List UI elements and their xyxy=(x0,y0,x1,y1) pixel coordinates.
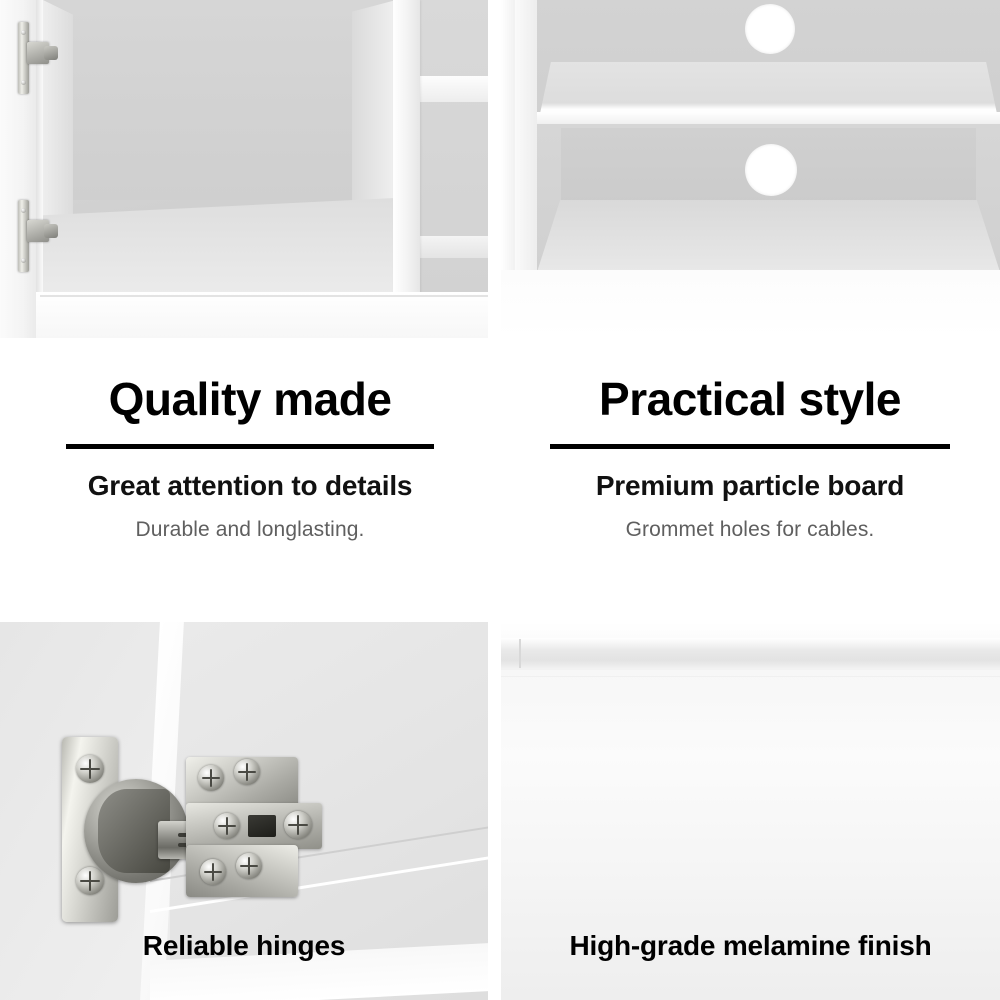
hinge-cup xyxy=(44,224,58,238)
grommet-hole-icon-lower xyxy=(745,144,797,196)
cabinet-plinth-seam xyxy=(40,295,488,297)
cabinet-interior-photo xyxy=(0,0,488,338)
screw-icon xyxy=(76,867,104,895)
cabinet-side-shelf-upper xyxy=(420,76,488,102)
feature-subhead: Great attention to details xyxy=(0,449,500,502)
feature-block-practical: Practical style Premium particle board G… xyxy=(500,338,1000,622)
caption-reliable-hinges: Reliable hinges xyxy=(0,930,488,962)
drawer-top-edge xyxy=(501,622,1000,638)
screw-icon xyxy=(234,759,260,785)
screw-icon xyxy=(21,258,26,263)
cabinet-divider-panel xyxy=(393,0,420,300)
feature-headline: Practical style xyxy=(500,338,1000,422)
screw-icon xyxy=(76,755,104,783)
screw-icon xyxy=(21,208,26,213)
feature-subhead: Premium particle board xyxy=(500,449,1000,502)
screw-icon xyxy=(21,30,26,35)
grommet-hole-icon-upper xyxy=(745,4,795,54)
drawer-recess-gap xyxy=(501,638,1000,670)
cabinet-plinth xyxy=(36,292,488,338)
screw-icon xyxy=(200,859,226,885)
feature-block-quality: Quality made Great attention to details … xyxy=(0,338,500,622)
screw-icon xyxy=(198,765,224,791)
drawer-gap-side-edge xyxy=(519,639,521,669)
panel-hairline xyxy=(501,676,1000,677)
shelf-grommet-photo xyxy=(501,0,1000,338)
concealed-hinge-icon xyxy=(62,717,322,932)
hinge-adjustment-slot xyxy=(248,815,276,837)
cabinet-base-plinth xyxy=(501,270,1000,338)
cabinet-left-side-panel xyxy=(501,0,515,280)
hinge-cup xyxy=(44,46,58,60)
drawer-gap-bottom-line xyxy=(501,668,1000,670)
screw-icon xyxy=(214,813,240,839)
feature-note: Grommet holes for cables. xyxy=(500,502,1000,541)
feature-note: Durable and longlasting. xyxy=(0,502,500,541)
shelf-floor xyxy=(537,200,1000,272)
cabinet-left-inner-panel xyxy=(515,0,537,275)
product-infographic: Quality made Great attention to details … xyxy=(0,0,1000,1000)
screw-icon xyxy=(236,853,262,879)
cabinet-side-shelf-lower xyxy=(420,236,488,258)
caption-melamine-finish: High-grade melamine finish xyxy=(501,930,1000,962)
cabinet-back-panel xyxy=(43,0,395,200)
screw-icon xyxy=(284,811,312,839)
feature-headline: Quality made xyxy=(0,338,500,422)
shelf-front-edge xyxy=(537,112,1000,124)
screw-icon xyxy=(21,80,26,85)
